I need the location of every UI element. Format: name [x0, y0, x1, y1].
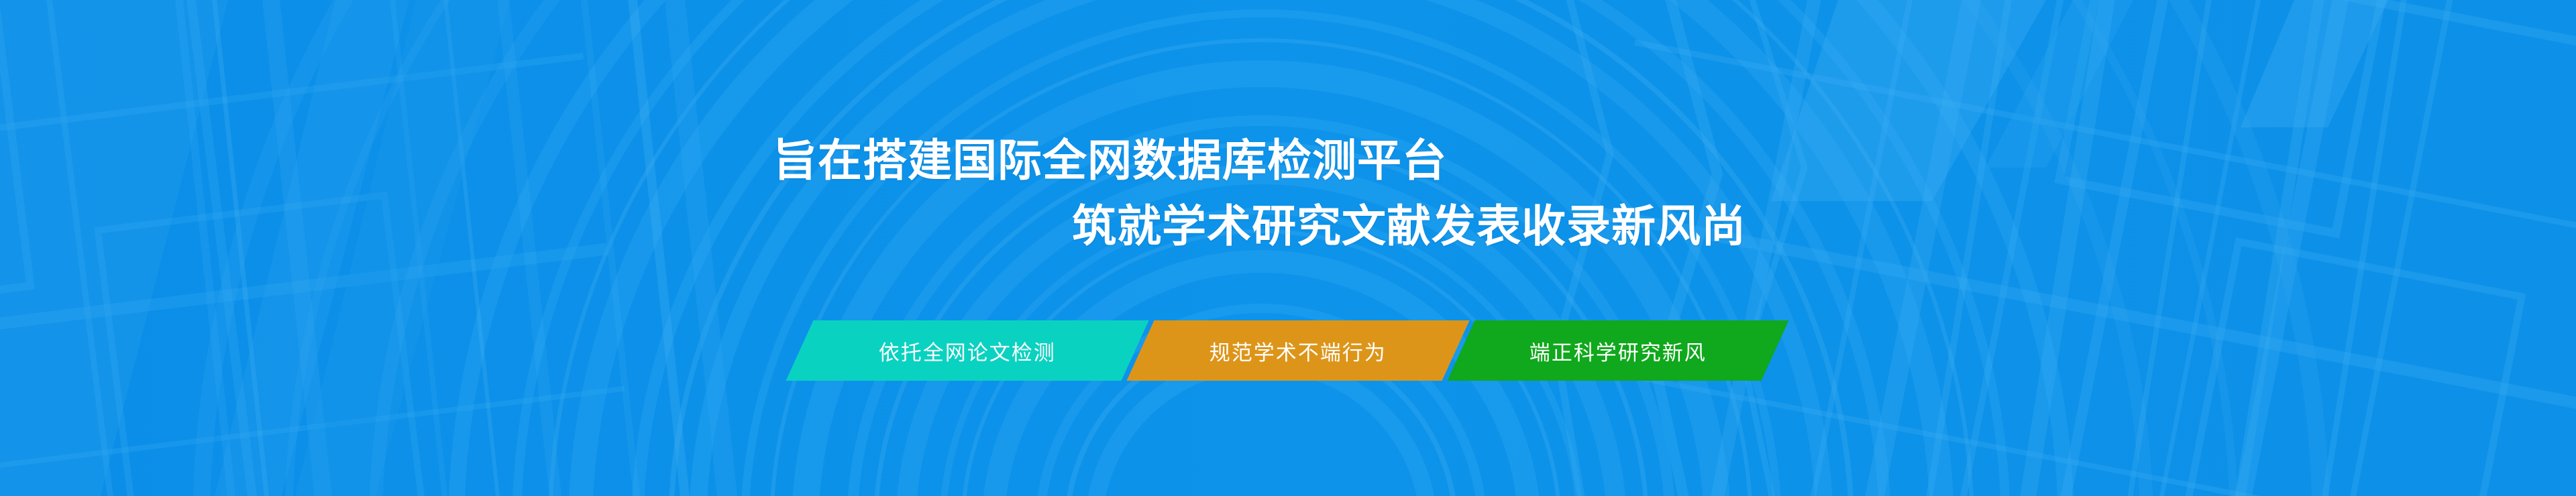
- feature-badge-3-label: 端正科学研究新风: [1529, 336, 1707, 366]
- feature-badge-3[interactable]: 端正科学研究新风: [1447, 320, 1788, 381]
- feature-badge-strip: 依托全网论文检测 规范学术不端行为 端正科学研究新风: [0, 320, 2576, 382]
- feature-badge-1-label: 依托全网论文检测: [879, 336, 1056, 366]
- feature-badge-2[interactable]: 规范学术不端行为: [1126, 320, 1469, 381]
- feature-badge-1[interactable]: 依托全网论文检测: [786, 320, 1148, 381]
- promo-banner: 旨在搭建国际全网数据库检测平台 筑就学术研究文献发表收录新风尚 依托全网论文检测…: [0, 0, 2576, 496]
- feature-badge-2-label: 规范学术不端行为: [1210, 336, 1387, 366]
- background-pattern: [0, 0, 2576, 496]
